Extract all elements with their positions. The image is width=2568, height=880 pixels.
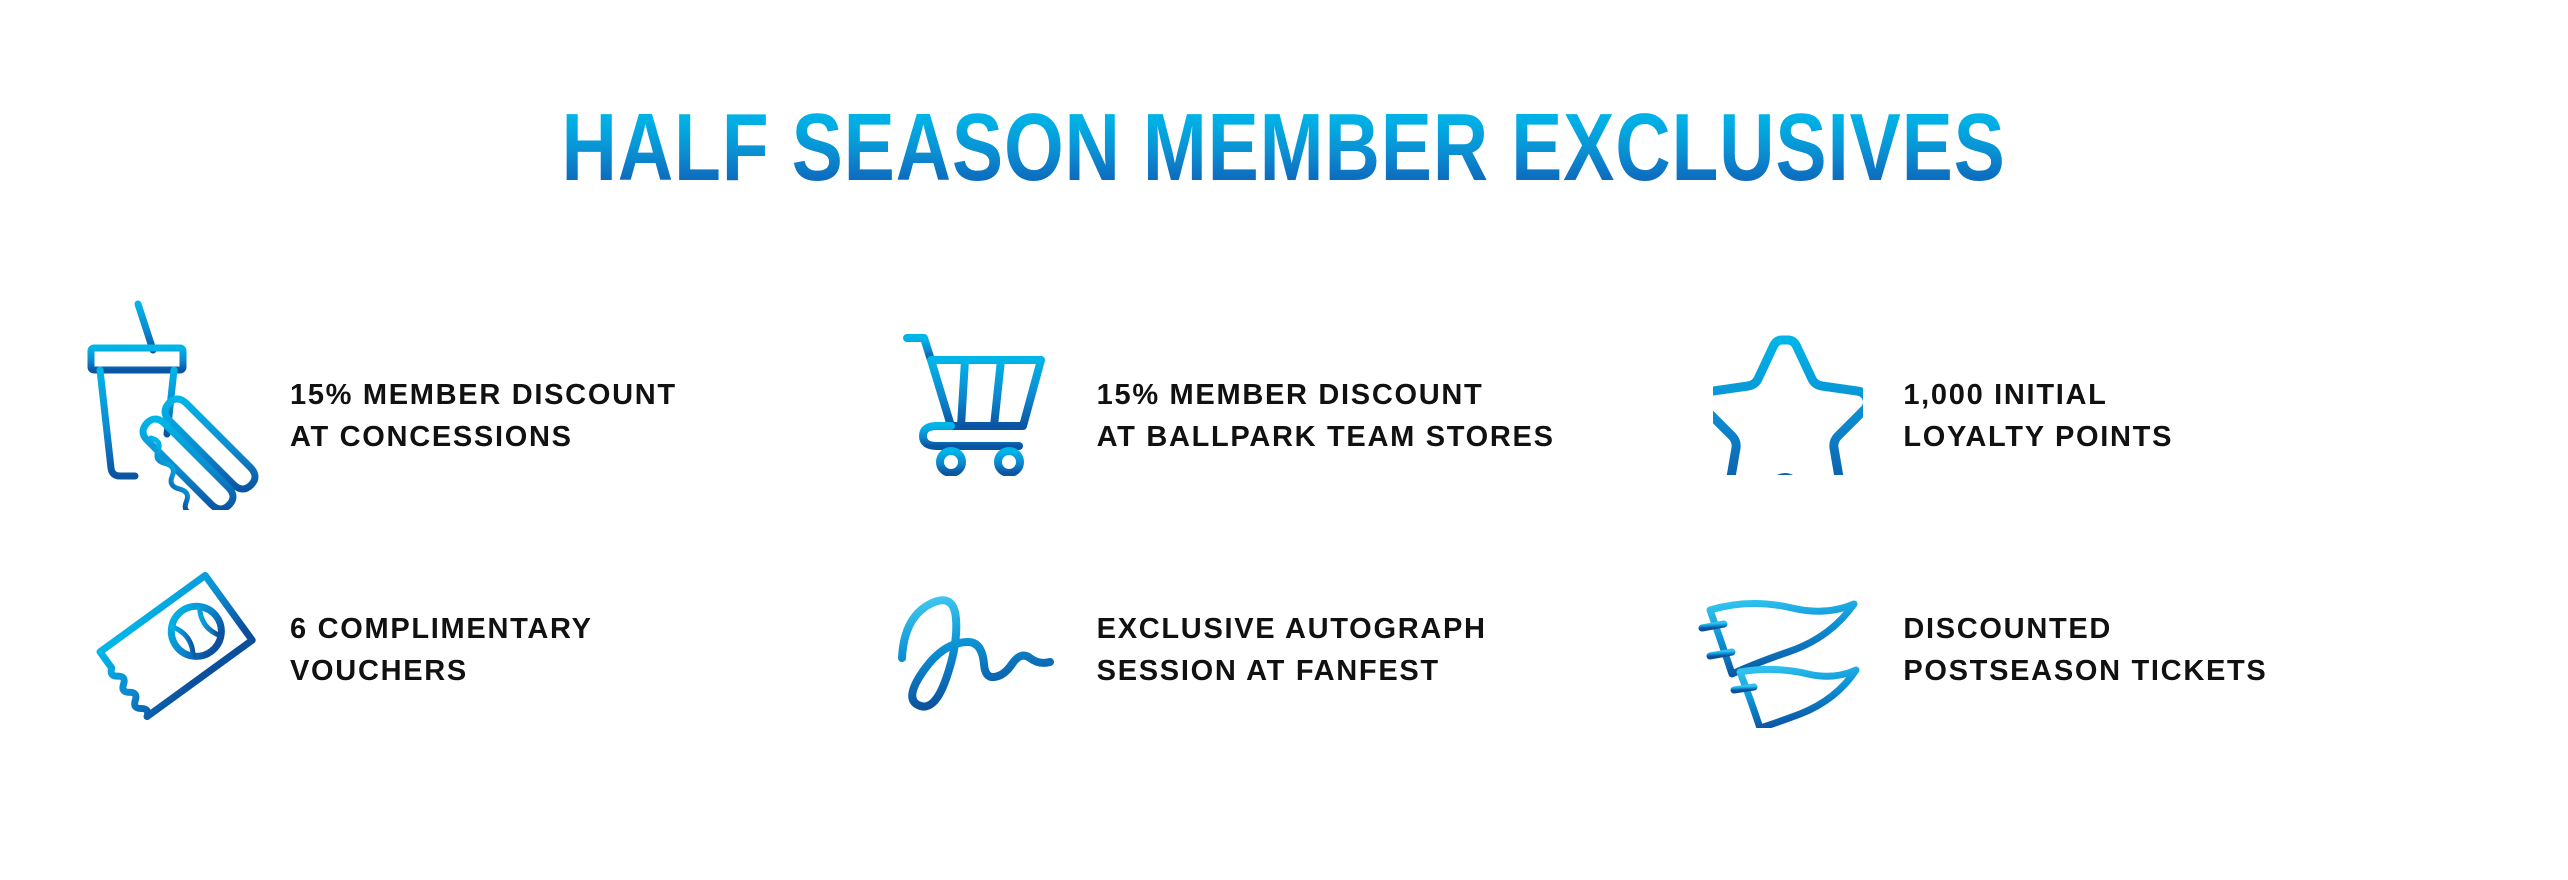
benefit-item-postseason: DISCOUNTED POSTSEASON TICKETS — [1673, 560, 2480, 790]
baseball-ticket-icon — [60, 560, 290, 738]
benefit-label: 15% MEMBER DISCOUNT AT CONCESSIONS — [290, 290, 867, 459]
shopping-cart-icon — [867, 290, 1097, 476]
benefit-label: 15% MEMBER DISCOUNT AT BALLPARK TEAM STO… — [1097, 290, 1674, 459]
promo-graphic: HALF SEASON MEMBER EXCLUSIVES — [0, 0, 2568, 880]
benefit-item-loyalty-points: 1,000 INITIAL LOYALTY POINTS — [1673, 290, 2480, 560]
star-icon — [1673, 290, 1903, 475]
benefit-label: 1,000 INITIAL LOYALTY POINTS — [1903, 290, 2480, 459]
signature-icon — [867, 560, 1097, 716]
benefit-label: 6 COMPLIMENTARY VOUCHERS — [290, 560, 867, 693]
benefit-label: EXCLUSIVE AUTOGRAPH SESSION AT FANFEST — [1097, 560, 1674, 693]
benefits-grid: 15% MEMBER DISCOUNT AT CONCESSIONS — [60, 290, 2480, 790]
pennant-flags-icon — [1673, 560, 1903, 728]
benefit-item-vouchers: 6 COMPLIMENTARY VOUCHERS — [60, 560, 867, 790]
benefit-item-concessions: 15% MEMBER DISCOUNT AT CONCESSIONS — [60, 290, 867, 560]
benefit-item-autograph: EXCLUSIVE AUTOGRAPH SESSION AT FANFEST — [867, 560, 1674, 790]
page-title-container: HALF SEASON MEMBER EXCLUSIVES — [0, 104, 2568, 192]
benefit-item-team-stores: 15% MEMBER DISCOUNT AT BALLPARK TEAM STO… — [867, 290, 1674, 560]
soda-and-hotdog-icon — [60, 290, 290, 510]
page-title: HALF SEASON MEMBER EXCLUSIVES — [562, 104, 2006, 192]
benefit-label: DISCOUNTED POSTSEASON TICKETS — [1903, 560, 2480, 693]
